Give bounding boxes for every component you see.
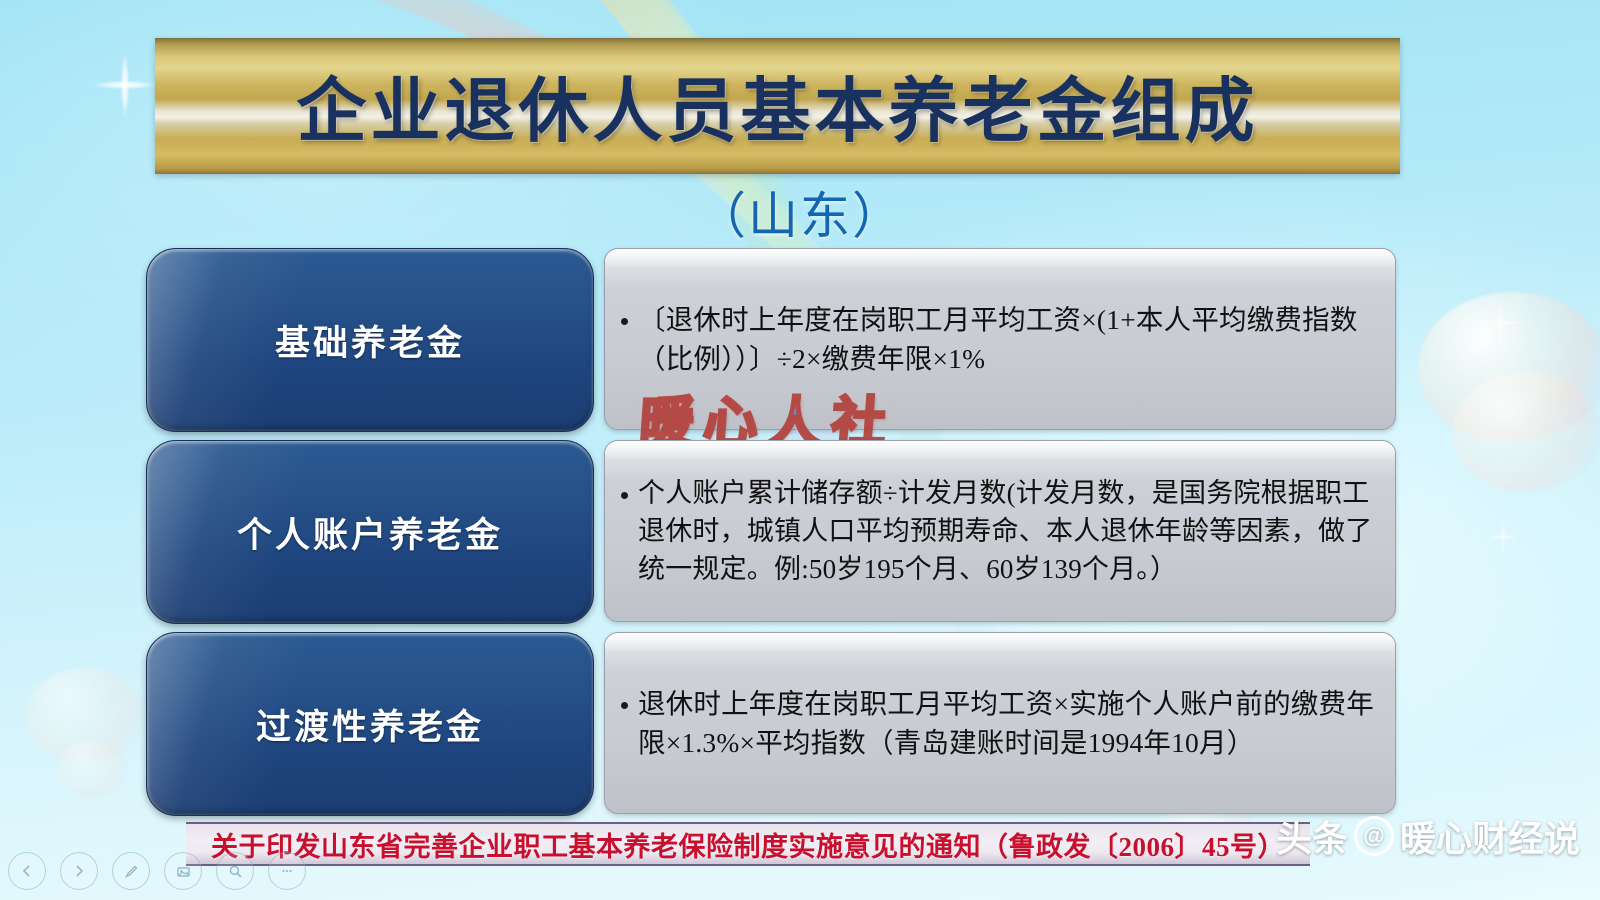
slide-canvas: 企业退休人员基本养老金组成 （山东） 基础养老金 〔退休时上年度在岗职工月平均工… — [0, 0, 1600, 900]
category-label: 基础养老金 — [275, 315, 465, 366]
next-icon[interactable] — [60, 852, 98, 890]
category-box-transitional-pension[interactable]: 过渡性养老金 — [146, 632, 594, 816]
footnote-bar: 关于印发山东省完善企业职工基本养老保险制度实施意见的通知（鲁政发〔2006〕45… — [186, 822, 1310, 866]
content-row: 过渡性养老金 退休时上年度在岗职工月平均工资×实施个人账户前的缴费年限×1.3%… — [0, 632, 1600, 814]
at-icon: @ — [1354, 816, 1394, 856]
formula-text: 个人账户累计储存额÷计发月数(计发月数，是国务院根据职工退休时，城镇人口平均预期… — [638, 474, 1377, 589]
category-label: 个人账户养老金 — [237, 507, 503, 558]
watermark-brand: 头条 — [1276, 810, 1348, 862]
content-row: 个人账户养老金 个人账户累计储存额÷计发月数(计发月数，是国务院根据职工退休时，… — [0, 440, 1600, 622]
footnote-text: 关于印发山东省完善企业职工基本养老保险制度实施意见的通知（鲁政发〔2006〕45… — [211, 825, 1285, 864]
formula-text: 退休时上年度在岗职工月平均工资×实施个人账户前的缴费年限×1.3%×平均指数（青… — [638, 684, 1377, 762]
formula-panel-personal-account-pension: 个人账户累计储存额÷计发月数(计发月数，是国务院根据职工退休时，城镇人口平均预期… — [604, 440, 1396, 622]
image-icon[interactable] — [164, 852, 202, 890]
page-subtitle: （山东） — [0, 176, 1600, 248]
more-icon[interactable] — [268, 852, 306, 890]
prev-icon[interactable] — [8, 852, 46, 890]
category-box-personal-account-pension[interactable]: 个人账户养老金 — [146, 440, 594, 624]
category-label: 过渡性养老金 — [256, 699, 484, 750]
formula-panel-transitional-pension: 退休时上年度在岗职工月平均工资×实施个人账户前的缴费年限×1.3%×平均指数（青… — [604, 632, 1396, 814]
title-banner: 企业退休人员基本养老金组成 — [155, 38, 1400, 174]
bullet-icon — [621, 318, 628, 325]
watermark-account: 暖心财经说 — [1400, 810, 1580, 862]
publisher-watermark: 头条 @ 暖心财经说 — [1276, 810, 1580, 862]
viewer-toolbar[interactable] — [8, 852, 306, 890]
pen-icon[interactable] — [112, 852, 150, 890]
page-title: 企业退休人员基本养老金组成 — [155, 38, 1400, 174]
zoom-icon[interactable] — [216, 852, 254, 890]
formula-text: 〔退休时上年度在岗职工月平均工资×(1+本人平均缴费指数（比例））〕÷2×缴费年… — [638, 300, 1377, 378]
category-box-basic-pension[interactable]: 基础养老金 — [146, 248, 594, 432]
bullet-icon — [621, 702, 628, 709]
bullet-icon — [621, 492, 628, 499]
